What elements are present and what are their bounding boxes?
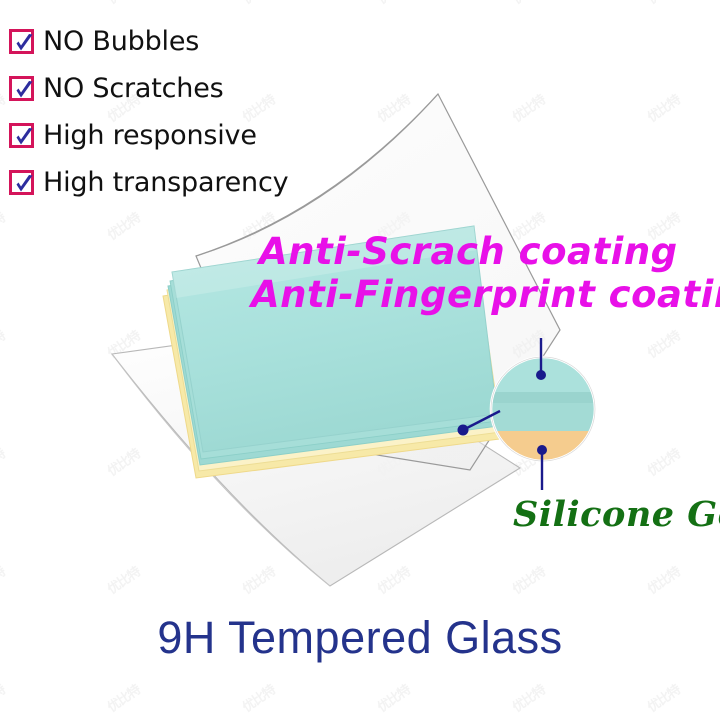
feature-label: High responsive bbox=[43, 122, 257, 149]
checkbox-checked-icon bbox=[9, 29, 34, 54]
feature-label: NO Scratches bbox=[43, 75, 223, 102]
feature-row: NO Scratches bbox=[9, 65, 288, 112]
page-title: 9H Tempered Glass bbox=[0, 612, 720, 664]
checkbox-checked-icon bbox=[9, 76, 34, 101]
feature-label: High transparency bbox=[43, 169, 288, 196]
anti-fingerprint-coating-label: Anti-Fingerprint coating bbox=[251, 273, 720, 316]
silicone-gel-label: Silicone Gel bbox=[513, 494, 720, 535]
callout-pointer-silicone bbox=[537, 445, 547, 490]
checkbox-checked-icon bbox=[9, 123, 34, 148]
anti-scratch-coating-label: Anti-Scrach coating bbox=[259, 230, 678, 273]
feature-list: NO Bubbles NO Scratches High responsive bbox=[9, 18, 288, 206]
feature-row: High responsive bbox=[9, 112, 288, 159]
feature-row: High transparency bbox=[9, 159, 288, 206]
checkbox-checked-icon bbox=[9, 170, 34, 195]
infographic-canvas: 优比特优比特优比特优比特优比特优比特优比特优比特优比特优比特优比特优比特优比特优… bbox=[0, 0, 720, 720]
feature-label: NO Bubbles bbox=[43, 28, 199, 55]
feature-row: NO Bubbles bbox=[9, 18, 288, 65]
